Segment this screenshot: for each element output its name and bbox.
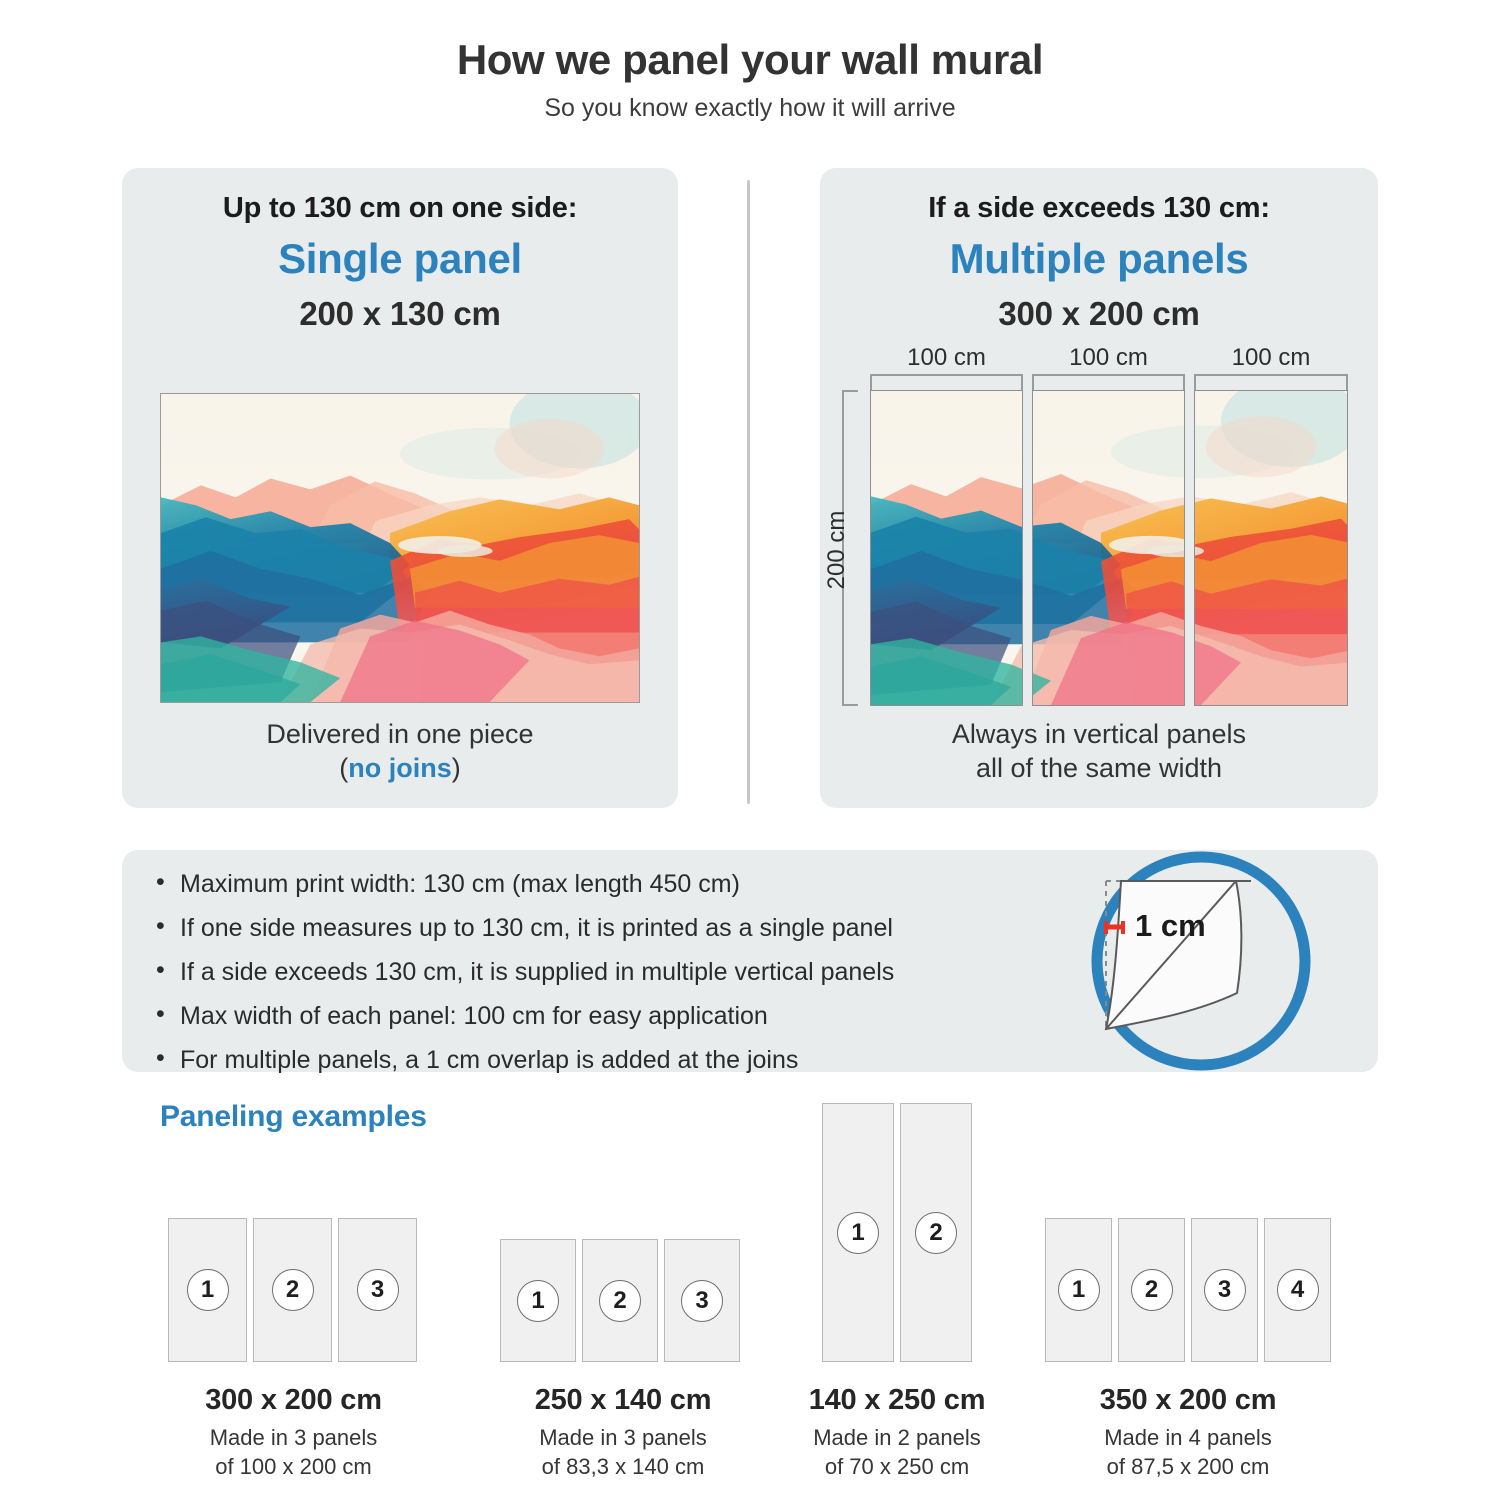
multiple-panels-headline: Multiple panels: [820, 235, 1378, 283]
mural-panel-2: [1032, 390, 1185, 706]
example-4-detail-line2: of 87,5 x 200 cm: [1107, 1454, 1270, 1479]
mural-slice-3-svg: [1194, 391, 1348, 705]
single-mural-preview: [160, 393, 640, 703]
width-label-1: 100 cm: [872, 344, 1021, 372]
example-2-caption: 250 x 140 cm Made in 3 panels of 83,3 x …: [488, 1384, 758, 1481]
panel-number-badge: 3: [357, 1269, 399, 1311]
example-1-caption: 300 x 200 cm Made in 3 panels of 100 x 2…: [156, 1384, 431, 1481]
spec-bullet-5: For multiple panels, a 1 cm overlap is a…: [154, 1048, 894, 1073]
example-4-panel-1: 1: [1045, 1218, 1112, 1362]
multiple-panels-kicker: If a side exceeds 130 cm:: [820, 192, 1378, 225]
example-3-detail-line1: Made in 2 panels: [813, 1425, 981, 1450]
multiple-panels-footer: Always in vertical panels all of the sam…: [820, 717, 1378, 786]
example-4-size: 350 x 200 cm: [1045, 1384, 1331, 1417]
example-1-detail: Made in 3 panels of 100 x 200 cm: [156, 1424, 431, 1481]
example-4-panels: 1 2 3 4: [1045, 1218, 1331, 1362]
mural-panel-2-art: [1032, 391, 1185, 705]
card-divider: [747, 180, 750, 804]
mural-slice-2-svg: [1032, 391, 1185, 705]
single-panel-headline: Single panel: [122, 235, 678, 283]
width-bracket-1: 100 cm: [870, 374, 1023, 390]
spec-bullet-1: Maximum print width: 130 cm (max length …: [154, 872, 894, 897]
width-bracket-3: 100 cm: [1194, 374, 1348, 390]
width-bracket-2: 100 cm: [1032, 374, 1185, 390]
panel-number-badge: 4: [1277, 1269, 1319, 1311]
single-panel-size: 200 x 130 cm: [122, 295, 678, 333]
example-2-detail: Made in 3 panels of 83,3 x 140 cm: [488, 1424, 758, 1481]
spec-bullet-4: Max width of each panel: 100 cm for easy…: [154, 1004, 894, 1029]
panel-number-badge: 1: [517, 1280, 559, 1322]
panel-number-badge: 1: [187, 1269, 229, 1311]
example-1-panel-2: 2: [253, 1218, 332, 1362]
example-3-size: 140 x 250 cm: [759, 1384, 1035, 1417]
paren-open: (: [339, 753, 348, 783]
panel-number-badge: 3: [1204, 1269, 1246, 1311]
mural-panel-3: [1194, 390, 1348, 706]
comparison-row: Up to 130 cm on one side: Single panel 2…: [0, 168, 1500, 816]
example-1-panel-1: 1: [168, 1218, 247, 1362]
example-2-panel-1: 1: [500, 1239, 576, 1362]
example-1-panels: 1 2 3: [168, 1218, 417, 1362]
mural-panel-3-art: [1194, 391, 1348, 705]
example-3-caption: 140 x 250 cm Made in 2 panels of 70 x 25…: [759, 1384, 1035, 1481]
example-3-panels: 1 2: [822, 1103, 972, 1362]
page-header: How we panel your wall mural So you know…: [0, 0, 1500, 123]
no-joins-accent: no joins: [348, 753, 452, 783]
overlap-diagram-svg: [1085, 845, 1317, 1077]
example-4-detail: Made in 4 panels of 87,5 x 200 cm: [1045, 1424, 1331, 1481]
panel-number-badge: 3: [681, 1280, 723, 1322]
page-title: How we panel your wall mural: [0, 36, 1500, 84]
example-4-caption: 350 x 200 cm Made in 4 panels of 87,5 x …: [1045, 1384, 1331, 1481]
mural-panel-1: [870, 390, 1023, 706]
panel-number-badge: 1: [1058, 1269, 1100, 1311]
example-2-panel-2: 2: [582, 1239, 658, 1362]
specs-bullet-list: Maximum print width: 130 cm (max length …: [154, 872, 894, 1092]
paren-close: ): [452, 753, 461, 783]
example-4-panel-3: 3: [1191, 1218, 1258, 1362]
overlap-detail-diagram: 1 cm: [1085, 845, 1317, 1077]
mural-artwork: [161, 394, 639, 702]
example-3-detail: Made in 2 panels of 70 x 250 cm: [759, 1424, 1035, 1481]
example-3-panel-1: 1: [822, 1103, 894, 1362]
mural-artwork-svg: [161, 394, 639, 702]
example-1-size: 300 x 200 cm: [156, 1384, 431, 1417]
overlap-measure-label: 1 cm: [1135, 908, 1206, 944]
multi-panel-preview: [870, 390, 1348, 706]
single-panel-footer-line1: Delivered in one piece: [122, 717, 678, 752]
panel-number-badge: 2: [1131, 1269, 1173, 1311]
width-label-3: 100 cm: [1196, 344, 1346, 372]
single-panel-footer-line2: (no joins): [122, 751, 678, 786]
multiple-panels-size: 300 x 200 cm: [820, 295, 1378, 333]
paneling-examples-title: Paneling examples: [160, 1100, 427, 1134]
multiple-panels-footer-line1: Always in vertical panels: [820, 717, 1378, 752]
example-3-panel-2: 2: [900, 1103, 972, 1362]
mural-slice-1-svg: [871, 391, 1023, 705]
example-1-detail-line1: Made in 3 panels: [210, 1425, 378, 1450]
example-4-detail-line1: Made in 4 panels: [1104, 1425, 1272, 1450]
example-1-panel-3: 3: [338, 1218, 417, 1362]
page-subtitle: So you know exactly how it will arrive: [0, 94, 1500, 123]
single-panel-footer: Delivered in one piece (no joins): [122, 717, 678, 786]
example-4-panel-2: 2: [1118, 1218, 1185, 1362]
panel-number-badge: 2: [915, 1212, 957, 1254]
panel-number-badge: 1: [837, 1212, 879, 1254]
panel-number-badge: 2: [272, 1269, 314, 1311]
example-1-detail-line2: of 100 x 200 cm: [215, 1454, 372, 1479]
panel-number-badge: 2: [599, 1280, 641, 1322]
spec-bullet-2: If one side measures up to 130 cm, it is…: [154, 916, 894, 941]
spec-bullet-3: If a side exceeds 130 cm, it is supplied…: [154, 960, 894, 985]
width-label-2: 100 cm: [1034, 344, 1183, 372]
single-panel-kicker: Up to 130 cm on one side:: [122, 192, 678, 225]
multiple-panels-footer-line2: all of the same width: [820, 751, 1378, 786]
example-2-panels: 1 2 3: [500, 1239, 740, 1362]
example-2-size: 250 x 140 cm: [488, 1384, 758, 1417]
example-2-detail-line2: of 83,3 x 140 cm: [542, 1454, 705, 1479]
example-3-detail-line2: of 70 x 250 cm: [825, 1454, 969, 1479]
height-label: 200 cm: [823, 500, 851, 600]
example-4-panel-4: 4: [1264, 1218, 1331, 1362]
multiple-panels-card: If a side exceeds 130 cm: Multiple panel…: [820, 168, 1378, 808]
mural-panel-1-art: [871, 391, 1023, 705]
example-2-panel-3: 3: [664, 1239, 740, 1362]
example-2-detail-line1: Made in 3 panels: [539, 1425, 707, 1450]
single-panel-card: Up to 130 cm on one side: Single panel 2…: [122, 168, 678, 808]
